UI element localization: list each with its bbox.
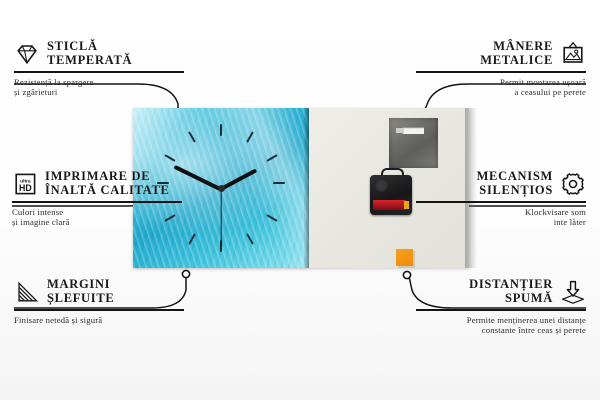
hanger-slot xyxy=(402,127,424,134)
callout-sub-line1: Permit montarea ușoară xyxy=(416,77,586,88)
callout-rule xyxy=(416,71,586,73)
callout-title-line1: IMPRIMARE DE xyxy=(45,170,170,184)
callout-title-line2: ȘLEFUITE xyxy=(47,292,114,306)
beveled-edge-icon xyxy=(14,280,40,304)
callout-rule xyxy=(14,309,184,311)
callout-header: MÂNERE METALICE xyxy=(416,40,586,67)
callout-sub-line1: Klockvisare som xyxy=(416,207,586,218)
callout-sub-line1: Finisare netedă și sigură xyxy=(14,315,184,326)
infographic-canvas: STICLĂ TEMPERATĂ Rezistență la spargere … xyxy=(0,0,600,400)
callout-title-line2: SILENȚIOS xyxy=(477,184,553,198)
callout-header: DISTANȚIER SPUMĂ xyxy=(416,278,586,305)
clock-tick xyxy=(273,182,285,184)
callout-header: MECANISM SILENȚIOS xyxy=(416,170,586,197)
callout-header: STICLĂ TEMPERATĂ xyxy=(14,40,184,67)
ultra-hd-icon: ultra HD xyxy=(12,172,38,196)
svg-text:HD: HD xyxy=(19,183,32,193)
callout-rule xyxy=(416,201,586,203)
callout-title-line2: TEMPERATĂ xyxy=(47,54,132,68)
hanger-slot-secondary xyxy=(396,128,404,133)
battery xyxy=(373,200,406,210)
callout-title-line1: MECANISM xyxy=(477,170,553,184)
wire-dot-margini-slefuite xyxy=(182,270,189,277)
clock-tick xyxy=(220,124,222,136)
picture-hanger-icon xyxy=(560,42,586,66)
gear-icon xyxy=(560,172,586,196)
callout-title-line1: DISTANȚIER xyxy=(469,278,553,292)
callout-rule xyxy=(14,71,184,73)
arrow-down-pad-icon xyxy=(560,280,586,304)
clock-second-hand xyxy=(220,189,221,247)
callout-sticla-temperata: STICLĂ TEMPERATĂ Rezistență la spargere … xyxy=(14,40,184,98)
wire-dot-distantier-spuma xyxy=(403,271,410,278)
callout-margini-slefuite: MARGINI ȘLEFUITE Finisare netedă și sigu… xyxy=(14,278,184,325)
callout-sub-line2: inte låter xyxy=(416,217,586,228)
callout-title-line1: MARGINI xyxy=(47,278,114,292)
callout-header: MARGINI ȘLEFUITE xyxy=(14,278,184,305)
battery-positive-tip xyxy=(404,201,409,209)
callout-title-line1: STICLĂ xyxy=(47,40,132,54)
callout-sub-line2: și imagine clară xyxy=(12,217,182,228)
callout-sub-line2: constante între ceas și perete xyxy=(416,325,586,336)
callout-title-line2: ÎNALTĂ CALITATE xyxy=(45,184,170,198)
callout-title-line2: SPUMĂ xyxy=(469,292,553,306)
callout-manere-metalice: MÂNERE METALICE Permit montarea ușoară a… xyxy=(416,40,586,98)
callout-distantier-spuma: DISTANȚIER SPUMĂ Permite menținerea unei… xyxy=(416,278,586,336)
mechanism-dial xyxy=(375,179,388,192)
callout-sub-line1: Rezistență la spargere xyxy=(14,77,184,88)
callout-sub-line2: și zgârieturi xyxy=(14,87,184,98)
callout-mecanism-silentios: MECANISM SILENȚIOS Klockvisare som inte … xyxy=(416,170,586,228)
callout-rule xyxy=(416,309,586,311)
callout-title-line2: METALICE xyxy=(480,54,553,68)
callout-title-line1: MÂNERE xyxy=(480,40,553,54)
metal-hanger-plate xyxy=(389,118,438,168)
diamond-icon xyxy=(14,42,40,66)
clock-center-cap xyxy=(218,185,225,192)
callout-imprimare-hd: ultra HD IMPRIMARE DE ÎNALTĂ CALITATE Cu… xyxy=(12,170,182,228)
callout-header: ultra HD IMPRIMARE DE ÎNALTĂ CALITATE xyxy=(12,170,182,197)
callout-sub-line1: Culori intense xyxy=(12,207,182,218)
callout-sub-line1: Permite menținerea unei distanțe xyxy=(416,315,586,326)
callout-rule xyxy=(12,201,182,203)
foam-spacer xyxy=(396,249,413,266)
callout-sub-line2: a ceasului pe perete xyxy=(416,87,586,98)
